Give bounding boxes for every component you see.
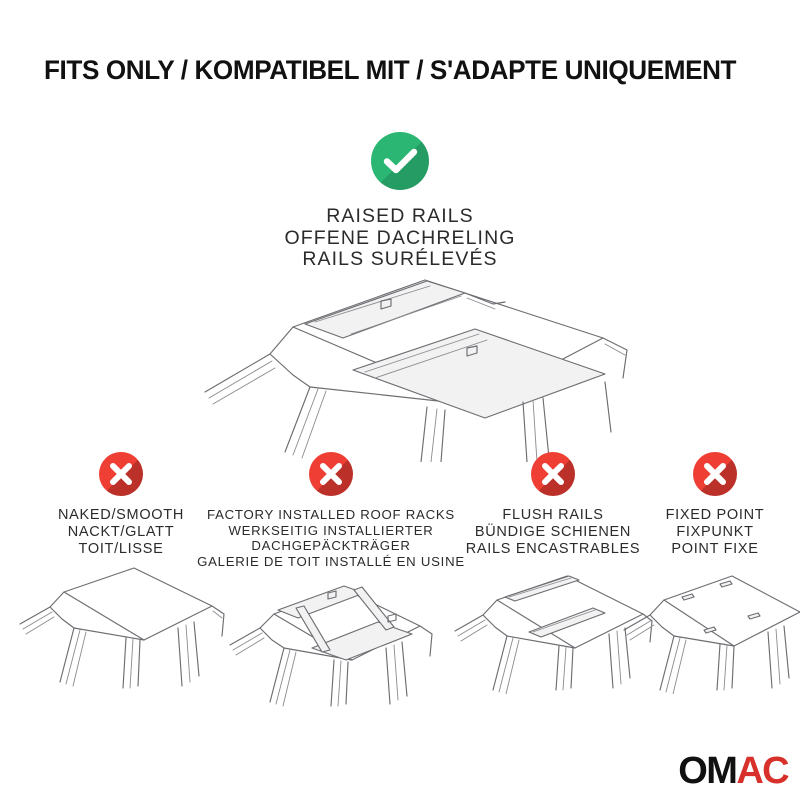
incompatible-sections: NAKED/SMOOTH NACKT/GLATT TOIT/LISSE: [0, 452, 800, 702]
label-line-fr: POINT FIXE: [630, 541, 800, 558]
incompatible-label: FIXED POINT FIXPUNKT POINT FIXE: [630, 507, 800, 558]
label-line-de-1: WERKSEITIG INSTALLIERTER: [196, 523, 466, 539]
car-roof-factory-roof-rack-illustration: [222, 568, 440, 708]
compatible-label-line-fr: RAILS SURÉLEVÉS: [0, 249, 800, 271]
label-line-en: FACTORY INSTALLED ROOF RACKS: [196, 507, 466, 523]
omac-logo: OMAC: [678, 752, 788, 790]
label-line-de: BÜNDIGE SCHIENEN: [448, 524, 658, 541]
compatible-label-line-en: RAISED RAILS: [0, 206, 800, 228]
incompatible-label: FACTORY INSTALLED ROOF RACKS WERKSEITIG …: [196, 507, 466, 569]
x-glyph: [693, 452, 737, 496]
x-circle-icon: [693, 452, 737, 496]
label-line-en: FIXED POINT: [630, 507, 800, 524]
logo-text-dark: OM: [678, 750, 736, 792]
car-roof-with-raised-rails-illustration: [175, 272, 635, 462]
incompatible-item-factory-roof-rack: FACTORY INSTALLED ROOF RACKS WERKSEITIG …: [196, 452, 466, 569]
car-roof-fixed-point-illustration: [622, 564, 800, 694]
page-title: FITS ONLY / KOMPATIBEL MIT / S'ADAPTE UN…: [44, 55, 763, 86]
x-circle-icon: [99, 452, 143, 496]
incompatible-label: FLUSH RAILS BÜNDIGE SCHIENEN RAILS ENCAS…: [448, 507, 658, 558]
x-glyph: [309, 452, 353, 496]
compatible-label: RAISED RAILS OFFENE DACHRELING RAILS SUR…: [0, 206, 800, 271]
x-glyph: [99, 452, 143, 496]
incompatible-item-flush-rails: FLUSH RAILS BÜNDIGE SCHIENEN RAILS ENCAS…: [448, 452, 658, 558]
compatible-section: RAISED RAILS OFFENE DACHRELING RAILS SUR…: [0, 132, 800, 271]
label-line-fr: RAILS ENCASTRABLES: [448, 541, 658, 558]
x-circle-icon: [309, 452, 353, 496]
x-circle-icon: [531, 452, 575, 496]
check-glyph: [371, 132, 429, 190]
incompatible-item-fixed-point: FIXED POINT FIXPUNKT POINT FIXE: [630, 452, 800, 558]
label-line-de-2: DACHGEPÄCKTRÄGER: [196, 538, 466, 554]
fitment-infographic: FITS ONLY / KOMPATIBEL MIT / S'ADAPTE UN…: [0, 0, 800, 800]
compatible-label-line-de: OFFENE DACHRELING: [0, 228, 800, 250]
car-roof-naked-smooth-illustration: [16, 560, 226, 690]
label-line-de: FIXPUNKT: [630, 524, 800, 541]
logo-text-red: AC: [736, 750, 788, 792]
check-circle-icon: [371, 132, 429, 190]
label-line-en: FLUSH RAILS: [448, 507, 658, 524]
x-glyph: [531, 452, 575, 496]
